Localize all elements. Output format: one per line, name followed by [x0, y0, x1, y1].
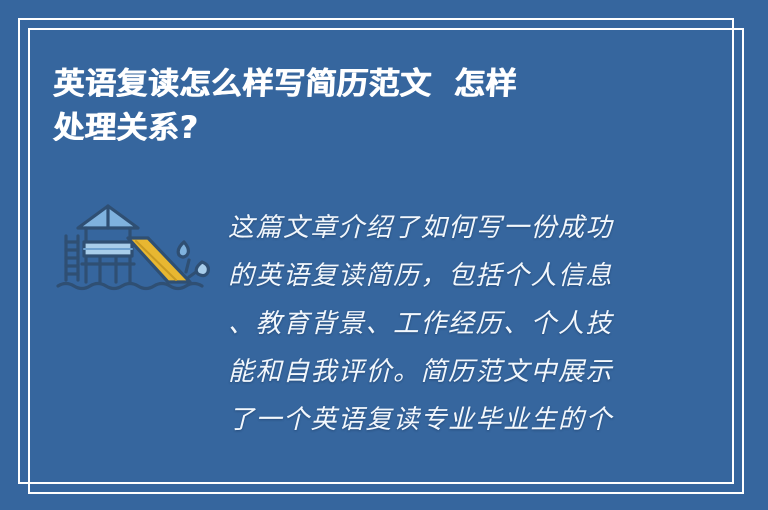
body-line-3: 、教育背景、工作经历、个人技 [228, 300, 658, 348]
title-line-2: 处理关系? [52, 106, 714, 150]
playground-slide-icon [56, 198, 216, 298]
body-line-4: 能和自我评价。简历范文中展示 [228, 348, 658, 396]
body-line-2: 的英语复读简历，包括个人信息 [228, 252, 658, 300]
body-line-1: 这篇文章介绍了如何写一份成功 [228, 204, 658, 252]
article-summary: 这篇文章介绍了如何写一份成功 的英语复读简历，包括个人信息 、教育背景、工作经历… [228, 204, 658, 444]
title-line-1: 英语复读怎么样写简历范文 怎样 [52, 62, 714, 106]
body-line-5: 了一个英语复读专业毕业生的个 [228, 396, 658, 444]
page-title: 英语复读怎么样写简历范文 怎样 处理关系? [52, 62, 712, 150]
article-card: 英语复读怎么样写简历范文 怎样 处理关系? [0, 0, 768, 510]
